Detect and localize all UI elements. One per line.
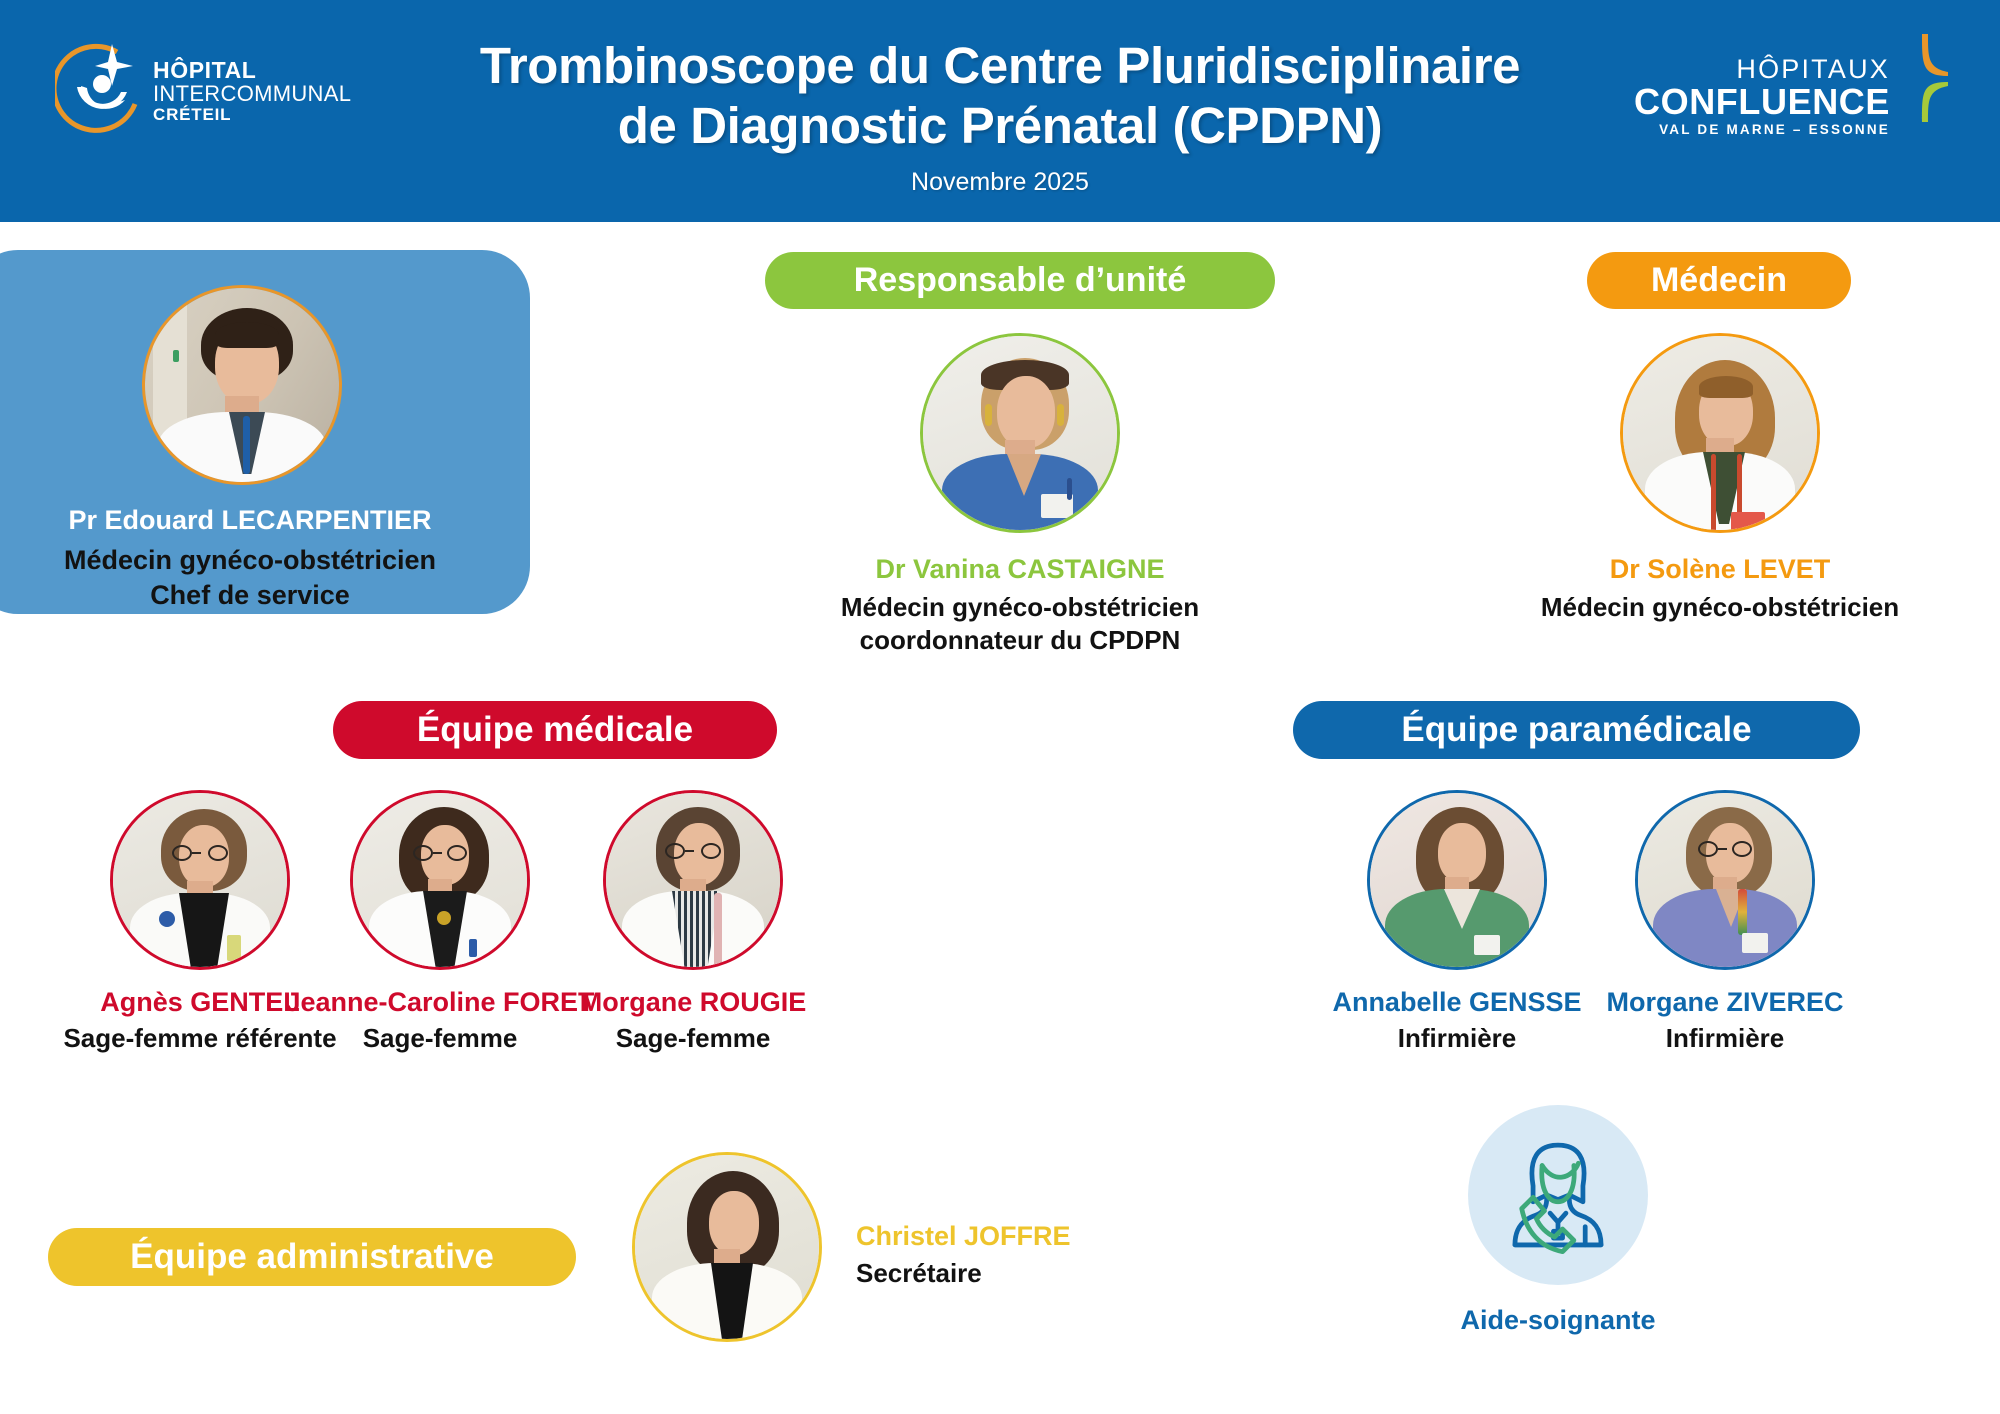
glasses-icon xyxy=(1698,841,1752,857)
person-role: Infirmière xyxy=(1545,1022,1905,1055)
person-role: Sage-femme xyxy=(513,1022,873,1055)
confluence-line-1: HÔPITAUX xyxy=(1634,56,1890,83)
page-header: HÔPITAL INTERCOMMUNAL CRÉTEIL Trombinosc… xyxy=(0,0,2000,222)
chef-name: Pr Edouard LECARPENTIER xyxy=(0,505,500,536)
person-name: Dr Vanina CASTAIGNE xyxy=(830,553,1210,585)
badge-medecin: Médecin xyxy=(1587,252,1851,309)
avatar-morgane-rougie xyxy=(603,790,783,970)
hospital-person-logo-icon xyxy=(55,42,147,142)
hopital-intercommunal-creteil-logo: HÔPITAL INTERCOMMUNAL CRÉTEIL xyxy=(55,42,345,148)
badge-responsable-unite: Responsable d’unité xyxy=(765,252,1275,309)
glasses-icon xyxy=(413,845,467,861)
person-role: Secrétaire xyxy=(856,1258,1276,1289)
badge-equipe-medicale: Équipe médicale xyxy=(333,701,777,759)
person-name: Dr Solène LEVET xyxy=(1530,553,1910,585)
logo-line-3: CRÉTEIL xyxy=(153,106,351,125)
avatar-morgane-ziverec xyxy=(1635,790,1815,970)
page-title-line-1: Trombinoscope du Centre Pluridisciplinai… xyxy=(370,36,1630,96)
person-role: Médecin gynéco-obstétricien coordonnateu… xyxy=(830,591,1210,656)
person-card-morgane-rougie: Morgane ROUGIE Sage-femme xyxy=(513,790,873,1055)
nurse-phone-avatar-icon xyxy=(1490,1127,1626,1263)
logo-line-1: HÔPITAL xyxy=(153,58,351,82)
confluence-line-3: VAL DE MARNE – ESSONNE xyxy=(1634,121,1890,139)
avatar-edouard-lecarpentier xyxy=(142,285,342,485)
person-role-line-1: Médecin gynéco-obstétricien xyxy=(830,591,1210,624)
chef-role: Médecin gynéco-obstétricien Chef de serv… xyxy=(0,543,500,612)
person-name: Morgane ROUGIE xyxy=(513,986,873,1018)
trombinoscope-poster: HÔPITAL INTERCOMMUNAL CRÉTEIL Trombinosc… xyxy=(0,0,2000,1414)
chef-role-line-1: Médecin gynéco-obstétricien xyxy=(0,543,500,578)
chef-role-line-2: Chef de service xyxy=(0,578,500,613)
person-card-vanina-castaigne: Dr Vanina CASTAIGNE Médecin gynéco-obsté… xyxy=(830,333,1210,656)
confluence-line-2: CONFLUENCE xyxy=(1634,83,1890,121)
page-title-line-2: de Diagnostic Prénatal (CPDPN) xyxy=(370,96,1630,156)
avatar-jeanne-caroline-foret xyxy=(350,790,530,970)
avatar-christel-joffre xyxy=(632,1152,822,1342)
chef-de-service-card: Pr Edouard LECARPENTIER Médecin gynéco-o… xyxy=(0,250,530,614)
aide-soignante-avatar-placeholder xyxy=(1468,1105,1648,1285)
header-title-block: Trombinoscope du Centre Pluridisciplinai… xyxy=(370,36,1630,197)
hopitaux-confluence-logo: HÔPITAUX CONFLUENCE VAL DE MARNE – ESSON… xyxy=(1650,34,1950,154)
person-name: Morgane ZIVEREC xyxy=(1545,986,1905,1018)
person-card-christel-joffre xyxy=(632,1152,832,1342)
avatar-annabelle-gensse xyxy=(1367,790,1547,970)
person-role: Médecin gynéco-obstétricien xyxy=(1530,591,1910,624)
person-role-line-2: coordonnateur du CPDPN xyxy=(830,624,1210,657)
glasses-icon xyxy=(172,845,228,861)
glasses-icon xyxy=(665,843,721,859)
avatar-solene-levet xyxy=(1620,333,1820,533)
badge-equipe-administrative: Équipe administrative xyxy=(48,1228,576,1286)
person-name: Christel JOFFRE xyxy=(856,1221,1276,1252)
logo-line-2: INTERCOMMUNAL xyxy=(153,82,351,106)
christel-joffre-text-block: Christel JOFFRE Secrétaire xyxy=(856,1221,1276,1289)
person-card-solene-levet: Dr Solène LEVET Médecin gynéco-obstétric… xyxy=(1530,333,1910,624)
aide-soignante-label: Aide-soignante xyxy=(1398,1305,1718,1336)
page-date: Novembre 2025 xyxy=(370,168,1630,197)
person-role-line-1: Médecin gynéco-obstétricien xyxy=(1530,591,1910,624)
badge-equipe-paramedicale: Équipe paramédicale xyxy=(1293,701,1860,759)
confluence-cross-logo-icon xyxy=(1882,34,1948,122)
avatar-vanina-castaigne xyxy=(920,333,1120,533)
person-card-morgane-ziverec: Morgane ZIVEREC Infirmière xyxy=(1545,790,1905,1055)
